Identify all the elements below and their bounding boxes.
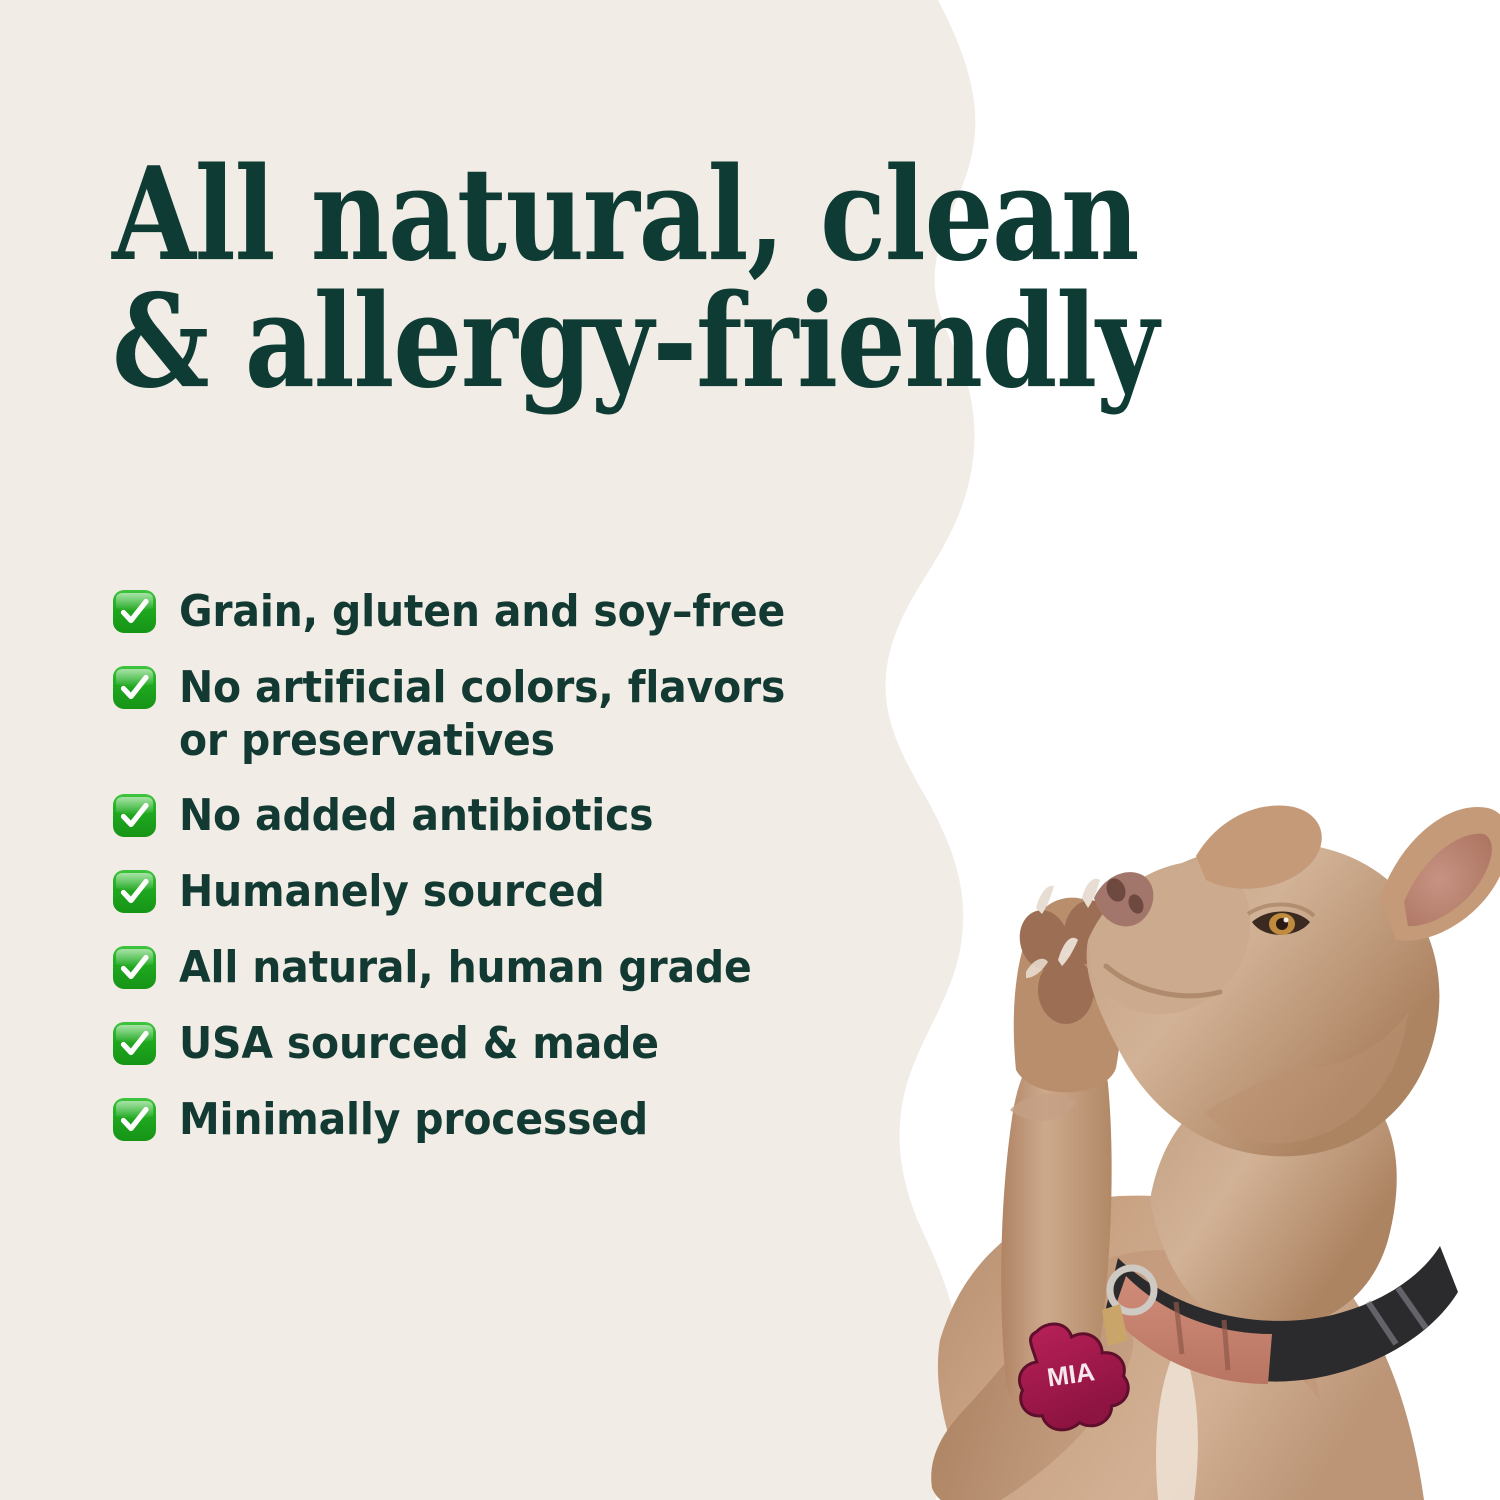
check-mark-button-icon [112, 589, 157, 634]
page-title: All natural, clean & allergy-friendly [112, 152, 1177, 405]
list-item-line: No added antibiotics [179, 790, 653, 843]
list-item-label: No added antibiotics [179, 790, 653, 843]
list-item-line: All natural, human grade [179, 942, 752, 995]
list-item-line: Humanely sourced [179, 866, 605, 919]
list-item-label: All natural, human grade [179, 942, 752, 995]
list-item-line: USA sourced & made [179, 1018, 659, 1071]
list-item: No added antibiotics [112, 790, 942, 843]
list-item-line: or preservatives [179, 715, 785, 768]
check-mark-button-icon [112, 665, 157, 710]
list-item-label: USA sourced & made [179, 1018, 659, 1071]
list-item-label: Grain, gluten and soy–free [179, 586, 785, 639]
list-item: No artificial colors, flavors or preserv… [112, 662, 942, 768]
headline-line-1: All natural, clean [112, 152, 1177, 279]
dog-photo: MIA [820, 640, 1500, 1500]
headline-line-2: & allergy-friendly [112, 279, 1177, 406]
list-item-line: Grain, gluten and soy–free [179, 586, 785, 639]
check-mark-button-icon [112, 869, 157, 914]
list-item: USA sourced & made [112, 1018, 942, 1071]
check-mark-button-icon [112, 945, 157, 990]
check-mark-button-icon [112, 1021, 157, 1066]
check-mark-button-icon [112, 793, 157, 838]
promo-graphic: All natural, clean & allergy-friendly [0, 0, 1500, 1500]
list-item-label: Humanely sourced [179, 866, 605, 919]
list-item-line: Minimally processed [179, 1094, 648, 1147]
list-item: All natural, human grade [112, 942, 942, 995]
list-item-label: No artificial colors, flavors or preserv… [179, 662, 785, 768]
list-item: Grain, gluten and soy–free [112, 586, 942, 639]
list-item: Humanely sourced [112, 866, 942, 919]
feature-checklist: Grain, gluten and soy–free No artificial… [112, 586, 942, 1146]
list-item: Minimally processed [112, 1094, 942, 1147]
check-mark-button-icon [112, 1097, 157, 1142]
list-item-label: Minimally processed [179, 1094, 648, 1147]
list-item-line: No artificial colors, flavors [179, 662, 785, 715]
